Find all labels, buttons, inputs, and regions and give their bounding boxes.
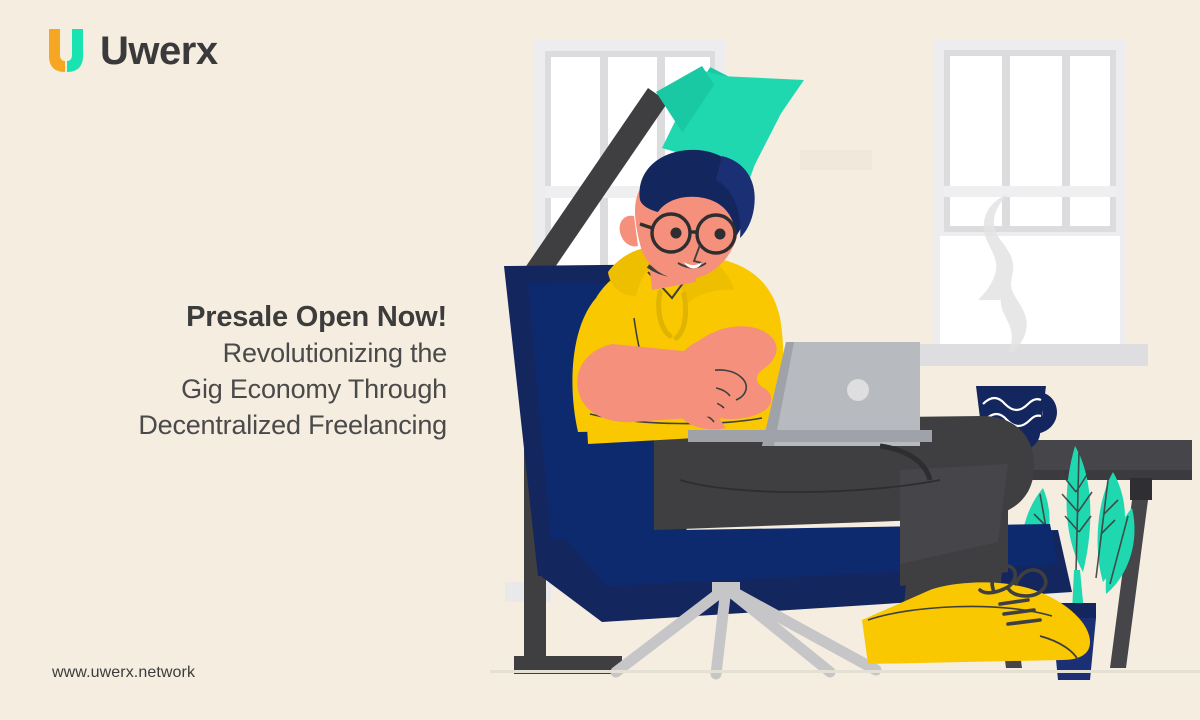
headline-line-2: Gig Economy Through [0, 371, 447, 407]
headline-eyebrow: Presale Open Now! [0, 300, 447, 335]
window-right-icon [934, 40, 1126, 350]
wall-accent [800, 150, 872, 170]
window-sill [898, 344, 1148, 366]
headline-block: Presale Open Now! Revolutionizing the Gi… [0, 300, 447, 443]
headline-line-3: Decentralized Freelancing [0, 407, 447, 443]
website-url[interactable]: www.uwerx.network [52, 664, 195, 682]
promo-banner: Uwerx Presale Open Now! Revolutionizing … [0, 0, 1200, 720]
headline-line-1: Revolutionizing the [0, 335, 447, 371]
uwerx-u-mark-icon [46, 28, 86, 74]
brand-wordmark: Uwerx [100, 31, 218, 71]
brand-logo[interactable]: Uwerx [46, 28, 218, 74]
floor-line [490, 670, 1200, 673]
